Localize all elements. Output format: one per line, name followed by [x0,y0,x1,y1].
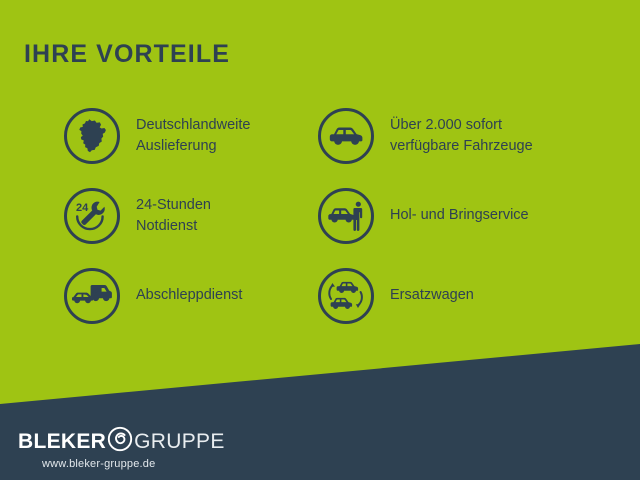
two-cars-exchange-icon [318,268,374,324]
car-icon [318,108,374,164]
benefit-row: 24 24-Stunden Notdienst Hol- und Bringse… [0,176,640,256]
benefit-label: 24-Stunden Notdienst [136,195,211,237]
benefit-label: Über 2.000 sofort verfügbare Fahrzeuge [390,115,533,157]
benefit-item-verfuegbare-fahrzeuge: Über 2.000 sofort verfügbare Fahrzeuge [318,96,584,176]
benefits-grid: Deutschlandweite Auslieferung Über 2.000… [0,96,640,336]
benefit-label: Abschleppdienst [136,285,242,306]
logo-name-light: GRUPPE [134,431,225,452]
benefit-item-ersatzwagen: Ersatzwagen [318,256,584,336]
benefit-label: Ersatzwagen [390,285,474,306]
benefit-item-abschleppdienst: Abschleppdienst [64,256,314,336]
logo-name-bold: BLEKER [18,431,106,452]
benefit-item-deutschlandweite-auslieferung: Deutschlandweite Auslieferung [64,96,314,176]
logo-url: www.bleker-gruppe.de [42,458,238,470]
benefit-item-hol-und-bringservice: Hol- und Bringservice [318,176,584,256]
logo: BLEKER GRUPPE www.bleker-gruppe.de [18,428,238,470]
svg-text:24: 24 [76,202,89,214]
spiral-circle-icon [107,426,133,457]
benefit-label: Hol- und Bringservice [390,205,529,226]
tow-truck-icon [64,268,120,324]
wrench-24h-icon: 24 [64,188,120,244]
benefit-item-24-stunden-notdienst: 24 24-Stunden Notdienst [64,176,314,256]
logo-wordmark: BLEKER GRUPPE [18,428,238,454]
benefit-row: Abschleppdienst Ersatzwagen [0,256,640,336]
germany-map-icon [64,108,120,164]
page-title: IHRE VORTEILE [24,40,230,69]
benefit-label: Deutschlandweite Auslieferung [136,115,250,157]
benefit-row: Deutschlandweite Auslieferung Über 2.000… [0,96,640,176]
car-with-person-icon [318,188,374,244]
slide-canvas: IHRE VORTEILE Deutschlandweite Ausliefer… [0,0,640,480]
